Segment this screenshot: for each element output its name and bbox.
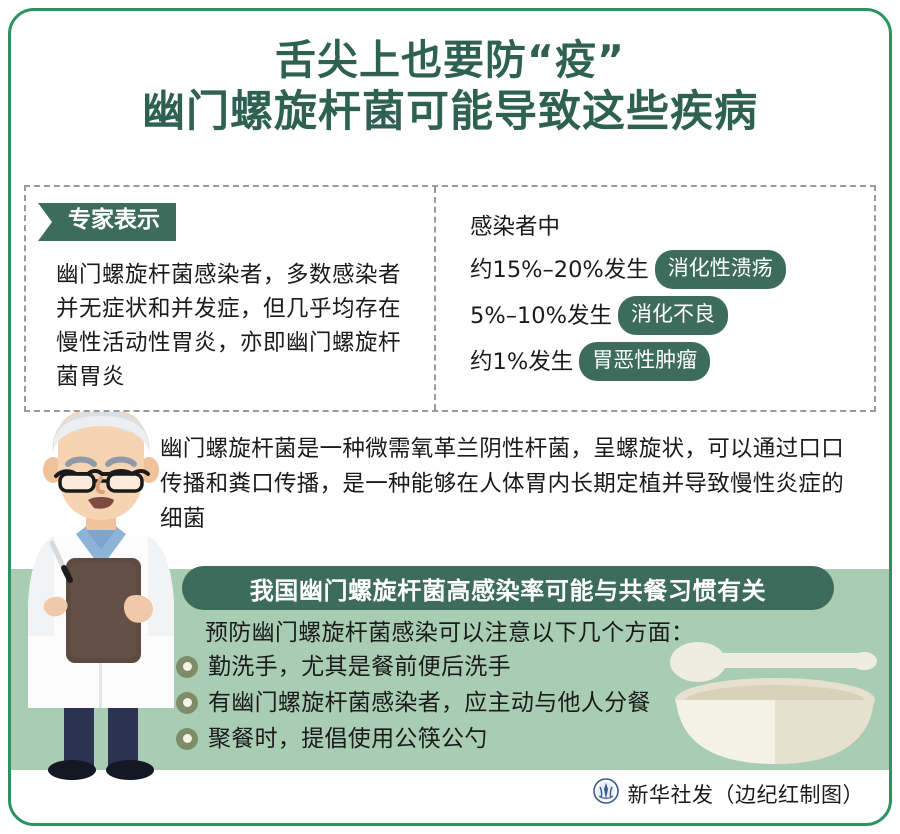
ring-bullet-icon bbox=[176, 692, 198, 714]
stats-row: 5%–10%发生 消化不良 bbox=[470, 296, 865, 335]
stats-heading: 感染者中 bbox=[470, 212, 865, 242]
dashed-column-divider bbox=[434, 187, 436, 410]
prevention-item-text: 有幽门螺旋杆菌感染者，应主动与他人分餐 bbox=[208, 688, 651, 718]
stats-rate: 5%–10%发生 bbox=[470, 301, 612, 331]
prevention-item-text: 勤洗手，尤其是餐前便后洗手 bbox=[208, 652, 511, 682]
highlight-bar-text: 我国幽门螺旋杆菌高感染率可能与共餐习惯有关 bbox=[250, 571, 767, 606]
stats-disease-badge: 消化性溃疡 bbox=[655, 250, 786, 289]
list-item: 聚餐时，提倡使用公筷公勺 bbox=[176, 722, 651, 755]
prevention-item-text: 聚餐时，提倡使用公筷公勺 bbox=[208, 724, 488, 754]
stats-disease-badge: 胃恶性肿瘤 bbox=[579, 342, 710, 381]
list-item: 勤洗手，尤其是餐前便后洗手 bbox=[176, 650, 651, 683]
ring-bullet-icon bbox=[176, 728, 198, 750]
expert-paragraph: 幽门螺旋杆菌感染者，多数感染者并无症状和并发症，但几乎均存在慢性活动性胃炎，亦即… bbox=[56, 258, 416, 394]
title-line-1: 舌尖上也要防“疫” bbox=[0, 38, 900, 84]
stats-rate: 约1%发生 bbox=[470, 347, 573, 377]
stats-disease-badge: 消化不良 bbox=[618, 296, 728, 335]
stats-rate: 约15%–20%发生 bbox=[470, 255, 649, 285]
expert-ribbon-label: 专家表示 bbox=[38, 203, 176, 241]
prevention-list: 勤洗手，尤其是餐前便后洗手 有幽门螺旋杆菌感染者，应主动与他人分餐 聚餐时，提倡… bbox=[176, 650, 651, 758]
highlight-bar: 我国幽门螺旋杆菌高感染率可能与共餐习惯有关 bbox=[182, 566, 834, 610]
bowl-and-spoon-illustration bbox=[668, 640, 883, 775]
expert-ribbon: 专家表示 bbox=[38, 203, 176, 241]
ring-bullet-icon bbox=[176, 656, 198, 678]
list-item: 有幽门螺旋杆菌感染者，应主动与他人分餐 bbox=[176, 686, 651, 719]
stats-row: 约15%–20%发生 消化性溃疡 bbox=[470, 250, 865, 289]
stats-column: 感染者中 约15%–20%发生 消化性溃疡 5%–10%发生 消化不良 约1%发… bbox=[470, 212, 865, 388]
infographic-poster: 舌尖上也要防“疫” 幽门螺旋杆菌可能导致这些疾病 专家表示 幽门螺旋杆菌感染者，… bbox=[0, 0, 900, 834]
stats-row: 约1%发生 胃恶性肿瘤 bbox=[470, 342, 865, 381]
poster-title: 舌尖上也要防“疫” 幽门螺旋杆菌可能导致这些疾病 bbox=[0, 38, 900, 136]
title-line-2: 幽门螺旋杆菌可能导致这些疾病 bbox=[0, 88, 900, 136]
credit-text: 新华社发（边纪红制图） bbox=[628, 779, 865, 809]
credit-line: 新华社发（边纪红制图） bbox=[593, 778, 865, 809]
description-paragraph: 幽门螺旋杆菌是一种微需氧革兰阴性杆菌，呈螺旋状，可以通过口口传播和粪口传播，是一… bbox=[160, 432, 860, 537]
prevention-heading: 预防幽门螺旋杆菌感染可以注意以下几个方面： bbox=[205, 618, 694, 648]
xinhua-logo-icon bbox=[593, 778, 619, 809]
